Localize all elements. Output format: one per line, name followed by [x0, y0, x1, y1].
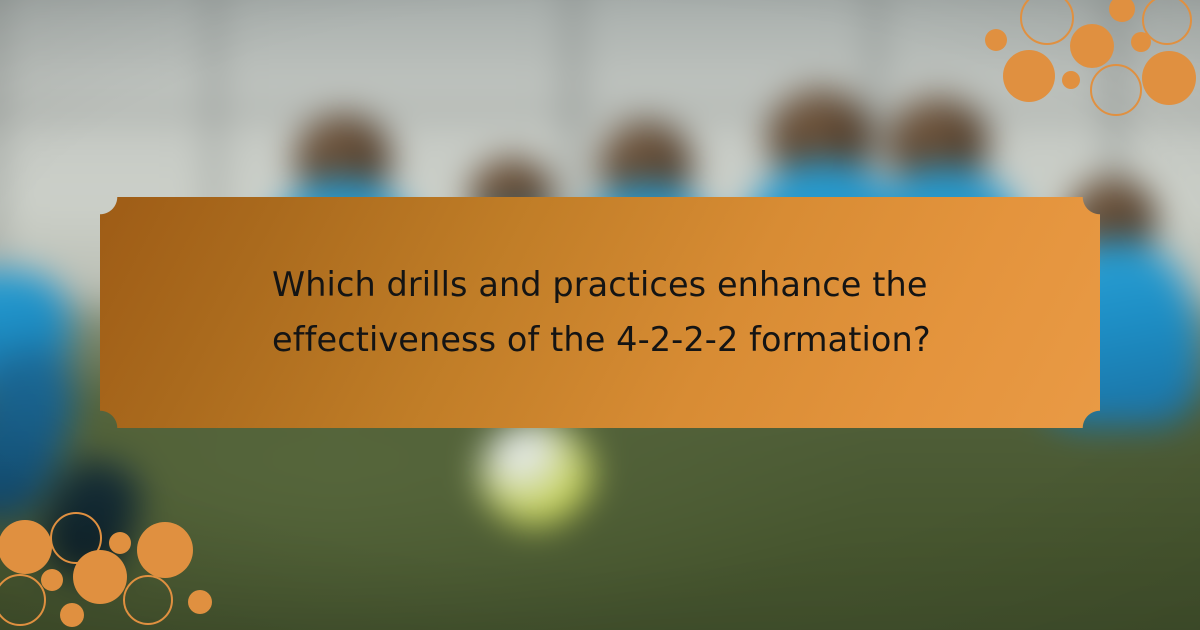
question-card: Which drills and practices enhance the e…: [100, 197, 1100, 428]
poster-canvas: Which drills and practices enhance the e…: [0, 0, 1200, 630]
wall-rail: [0, 105, 1200, 121]
question-line-2: effectiveness of the 4-2-2-2 formation?: [272, 313, 931, 367]
question-line-1: Which drills and practices enhance the: [272, 258, 931, 312]
question-text: Which drills and practices enhance the e…: [272, 258, 931, 367]
soccer-ball: [480, 422, 592, 526]
